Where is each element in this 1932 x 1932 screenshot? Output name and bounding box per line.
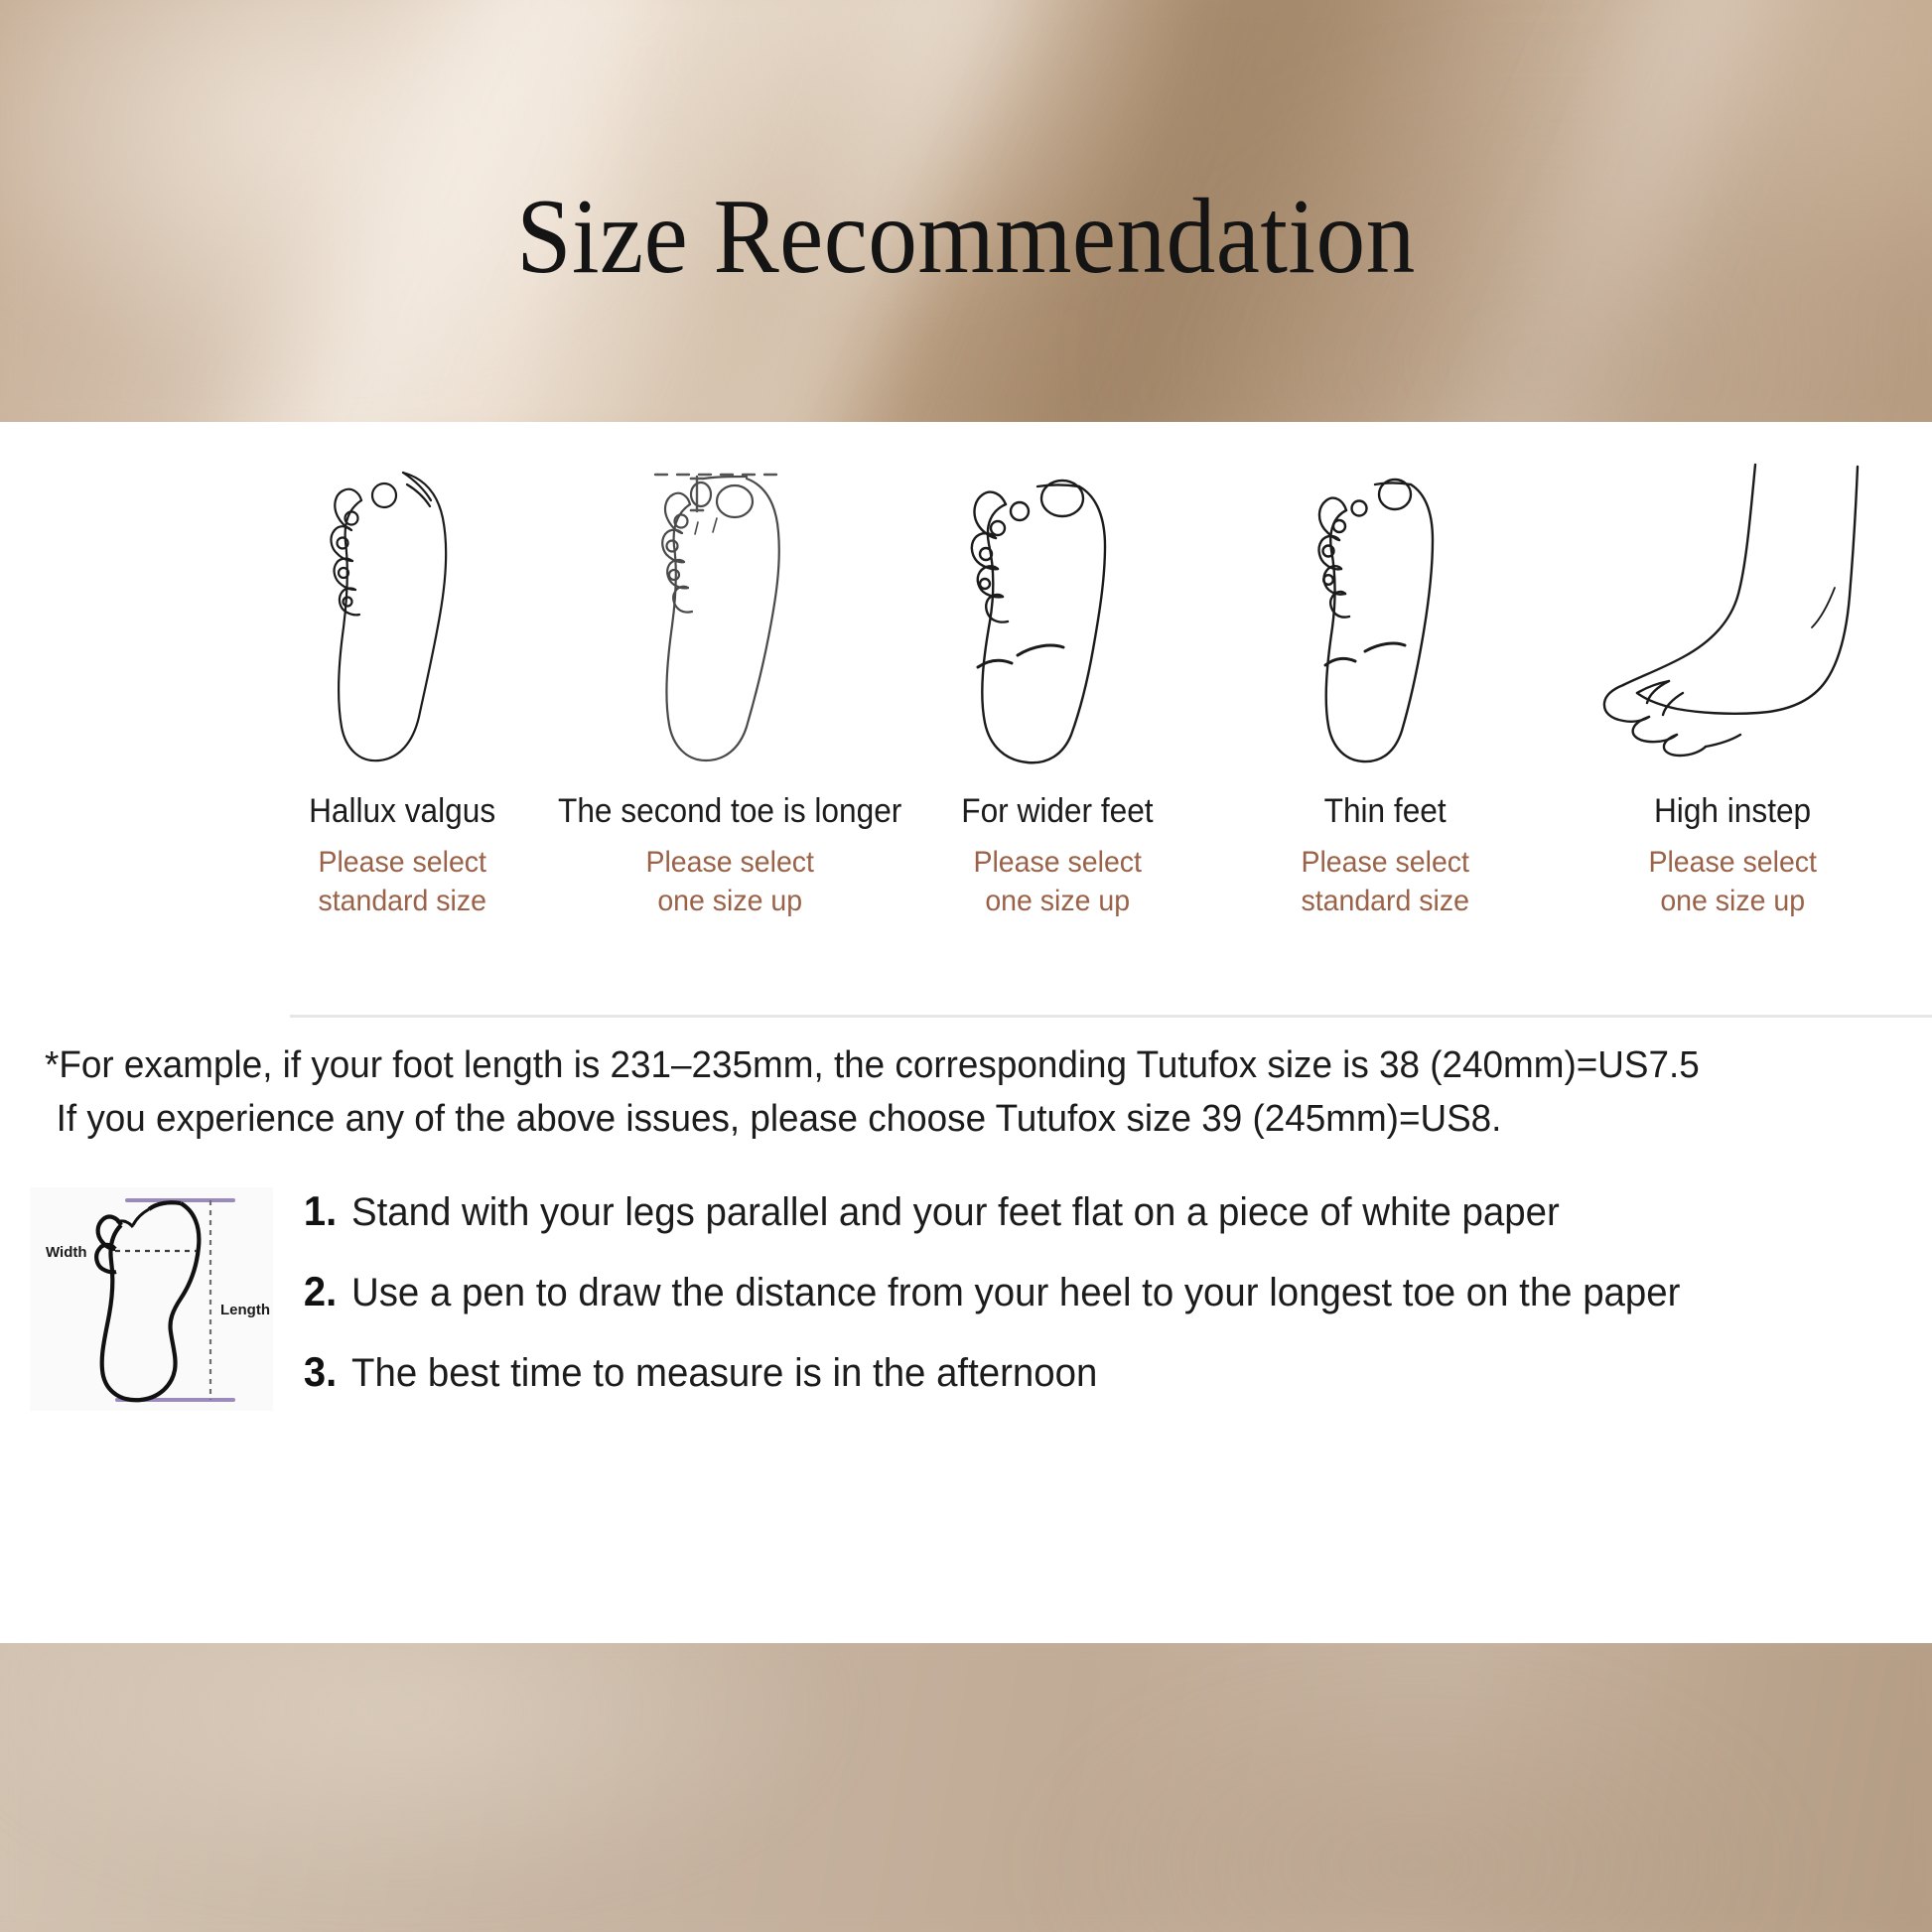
foot-type-advice: Please select one size up	[973, 843, 1142, 920]
step-number: 3.	[304, 1348, 337, 1396]
advice-line-1: Please select	[645, 846, 814, 879]
page-title: Size Recommendation	[77, 184, 1855, 291]
example-line-2: If you experience any of the above issue…	[45, 1093, 1856, 1147]
advice-line-2: one size up	[657, 885, 802, 917]
foot-measure-diagram: Width Length	[30, 1187, 273, 1411]
foot-type-label: The second toe is longer	[558, 792, 901, 831]
foot-type-hallux-valgus: Hallux valgus Please select standard siz…	[253, 452, 551, 920]
advice-line-2: one size up	[985, 885, 1130, 917]
list-item: 3. The best time to measure is in the af…	[303, 1348, 1921, 1396]
foot-profile-high-arch-icon	[1591, 452, 1874, 774]
foot-type-label: Thin feet	[1323, 792, 1446, 831]
step-number: 1.	[304, 1187, 337, 1235]
step-number: 2.	[304, 1268, 337, 1315]
advice-line-2: standard size	[1301, 885, 1469, 917]
list-item: 2. Use a pen to draw the distance from y…	[303, 1268, 1921, 1315]
advice-line-1: Please select	[1648, 846, 1817, 879]
foot-sole-wide-icon	[958, 452, 1157, 774]
foot-type-high-instep: High instep Please select one size up	[1564, 452, 1901, 920]
measure-steps-list: 1. Stand with your legs parallel and you…	[303, 1187, 1921, 1429]
advice-line-2: one size up	[1660, 885, 1805, 917]
foot-type-advice: Please select standard size	[1301, 843, 1469, 920]
foot-type-thin-feet: Thin feet Please select standard size	[1236, 452, 1534, 920]
advice-line-1: Please select	[973, 846, 1142, 879]
footer-gradient-lights	[0, 1643, 1932, 1932]
section-divider	[290, 1015, 1932, 1018]
list-item: 1. Stand with your legs parallel and you…	[303, 1187, 1921, 1235]
advice-line-1: Please select	[1301, 846, 1469, 879]
example-line-1: *For example, if your foot length is 231…	[45, 1039, 1856, 1093]
foot-type-second-toe-longer: The second toe is longer Please select o…	[581, 452, 879, 920]
foot-type-advice: Please select standard size	[318, 843, 486, 920]
example-note: *For example, if your foot length is 231…	[45, 1039, 1856, 1147]
foot-sole-long-second-toe-icon	[635, 452, 824, 774]
foot-type-label: High instep	[1654, 792, 1811, 831]
advice-line-1: Please select	[318, 846, 486, 879]
length-label: Length	[220, 1302, 270, 1318]
foot-type-wider-feet: For wider feet Please select one size up	[908, 452, 1206, 920]
foot-type-advice: Please select one size up	[645, 843, 814, 920]
footer-banner	[0, 1643, 1932, 1932]
foot-sole-narrow-icon	[1304, 452, 1467, 774]
step-text: Use a pen to draw the distance from your…	[351, 1271, 1680, 1315]
step-text: Stand with your legs parallel and your f…	[351, 1190, 1560, 1235]
foot-type-label: For wider feet	[961, 792, 1153, 831]
foot-types-row: Hallux valgus Please select standard siz…	[253, 452, 1901, 920]
foot-sole-bunion-icon	[308, 452, 496, 774]
width-label: Width	[46, 1244, 87, 1261]
advice-line-2: standard size	[318, 885, 486, 917]
foot-type-advice: Please select one size up	[1648, 843, 1817, 920]
foot-type-label: Hallux valgus	[309, 792, 495, 831]
step-text: The best time to measure is in the after…	[351, 1351, 1097, 1396]
